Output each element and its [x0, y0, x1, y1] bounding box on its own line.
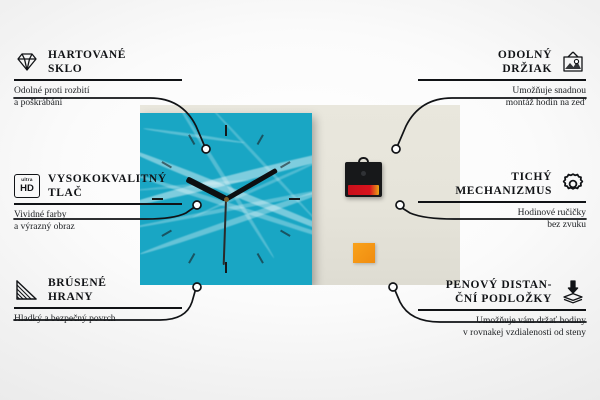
feature-header: HARTOVANÉ SKLO: [14, 48, 182, 76]
diamond-icon: [14, 49, 40, 75]
feature-subtitle: Umožňuje snadnou montáž hodin na zeď: [418, 85, 586, 109]
divider: [14, 203, 182, 205]
ultra-hd-icon: ultra HD: [14, 174, 40, 198]
feature-header: ultra HD VYSOKOKVALITNÝ TLAČ: [14, 172, 182, 200]
beveled-edge-icon: [14, 277, 40, 303]
press-down-layers-icon: [560, 279, 586, 305]
feature-title: ODOLNÝ DRŽIAK: [498, 48, 552, 76]
gear-icon: [560, 171, 586, 197]
feature-silent-mechanism[interactable]: TICHÝ MECHANIZMUS Hodinové ručičky bez z…: [418, 170, 586, 231]
feature-title: HARTOVANÉ SKLO: [48, 48, 126, 76]
ultra-hd-icon-large-text: HD: [20, 184, 34, 194]
feature-durable-holder[interactable]: ODOLNÝ DRŽIAK Umožňuje snadnou montáž ho…: [418, 48, 586, 109]
feature-title: VYSOKOKVALITNÝ TLAČ: [48, 172, 167, 200]
divider: [418, 79, 586, 81]
infographic-stage: HARTOVANÉ SKLO Odolné proti rozbití a po…: [0, 0, 600, 400]
feature-header: TICHÝ MECHANIZMUS: [418, 170, 586, 198]
feature-header: BRÚSENÉ HRANY: [14, 276, 182, 304]
feature-subtitle: Umožňuje vám držať hodiny v rovnakej vzd…: [418, 315, 586, 339]
feature-subtitle: Vividné farby a výrazný obraz: [14, 209, 182, 233]
feature-tempered-glass[interactable]: HARTOVANÉ SKLO Odolné proti rozbití a po…: [14, 48, 182, 109]
divider: [14, 307, 182, 309]
feature-title: BRÚSENÉ HRANY: [48, 276, 107, 304]
feature-foam-spacers[interactable]: PENOVÝ DISTAN- ČNÍ PODLOŽKY Umožňuje vám…: [418, 278, 586, 339]
divider: [418, 201, 586, 203]
feature-subtitle: Hladký a bezpečný povrch: [14, 313, 182, 325]
feature-polished-edges[interactable]: BRÚSENÉ HRANY Hladký a bezpečný povrch: [14, 276, 182, 325]
feature-header: PENOVÝ DISTAN- ČNÍ PODLOŽKY: [418, 278, 586, 306]
picture-hanger-icon: [560, 49, 586, 75]
feature-subtitle: Hodinové ručičky bez zvuku: [418, 207, 586, 231]
feature-title: TICHÝ MECHANIZMUS: [455, 170, 552, 198]
divider: [418, 309, 586, 311]
feature-subtitle: Odolné proti rozbití a poškrábání: [14, 85, 182, 109]
feature-high-quality-print[interactable]: ultra HD VYSOKOKVALITNÝ TLAČ Vividné far…: [14, 172, 182, 233]
feature-title: PENOVÝ DISTAN- ČNÍ PODLOŽKY: [446, 278, 552, 306]
divider: [14, 79, 182, 81]
feature-header: ODOLNÝ DRŽIAK: [418, 48, 586, 76]
